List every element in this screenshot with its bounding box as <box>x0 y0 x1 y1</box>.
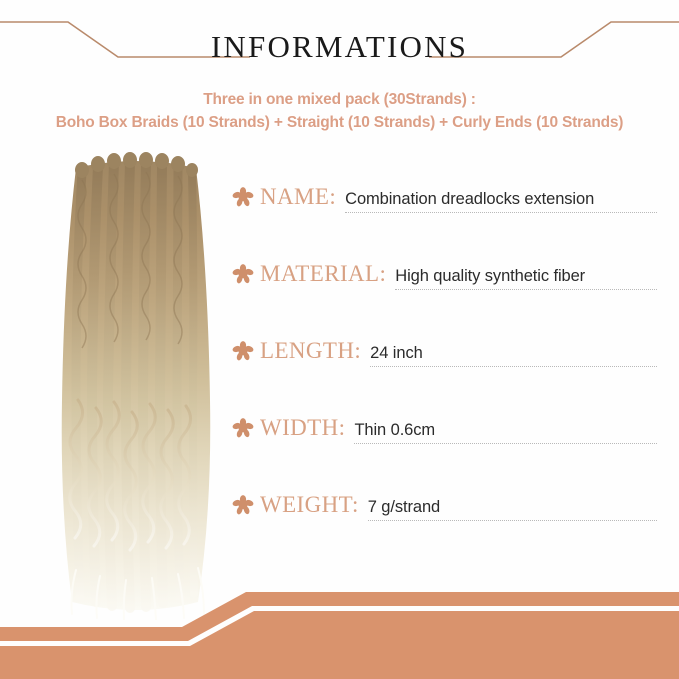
product-photo <box>46 150 226 620</box>
spec-value-underline: Thin 0.6cm <box>354 421 657 444</box>
spec-label: MATERIAL: <box>260 261 386 287</box>
pack-composition-subtitle: Three in one mixed pack (30Strands) : Bo… <box>0 88 679 134</box>
flower-bullet-icon <box>232 340 254 362</box>
flower-bullet-icon <box>232 417 254 439</box>
spec-label: WIDTH: <box>260 415 345 441</box>
flower-bullet-icon <box>232 494 254 516</box>
spec-row-name: NAME: Combination dreadlocks extension <box>232 182 657 259</box>
spec-row-material: MATERIAL: High quality synthetic fiber <box>232 259 657 336</box>
information-panel: INFORMATIONS Three in one mixed pack (30… <box>0 0 679 679</box>
bottom-corner-band <box>0 584 679 679</box>
spec-row-width: WIDTH: Thin 0.6cm <box>232 413 657 490</box>
spec-value: Thin 0.6cm <box>354 421 435 439</box>
spec-label: WEIGHT: <box>260 492 359 518</box>
spec-value: 24 inch <box>370 344 423 362</box>
page-title: INFORMATIONS <box>0 29 679 65</box>
flower-bullet-icon <box>232 263 254 285</box>
spec-value-underline: 24 inch <box>370 344 657 367</box>
spec-label: NAME: <box>260 184 336 210</box>
spec-row-length: LENGTH: 24 inch <box>232 336 657 413</box>
flower-bullet-icon <box>232 186 254 208</box>
spec-row-weight: WEIGHT: 7 g/strand <box>232 490 657 567</box>
spec-value-underline: 7 g/strand <box>368 498 657 521</box>
spec-label: LENGTH: <box>260 338 361 364</box>
spec-list: NAME: Combination dreadlocks extension <box>232 182 657 567</box>
subtitle-line-2: Boho Box Braids (10 Strands) + Straight … <box>0 111 679 134</box>
spec-value-underline: Combination dreadlocks extension <box>345 190 657 213</box>
spec-value-underline: High quality synthetic fiber <box>395 267 657 290</box>
spec-value: 7 g/strand <box>368 498 440 516</box>
spec-value: Combination dreadlocks extension <box>345 190 594 208</box>
spec-value: High quality synthetic fiber <box>395 267 585 285</box>
subtitle-line-1: Three in one mixed pack (30Strands) : <box>0 88 679 111</box>
